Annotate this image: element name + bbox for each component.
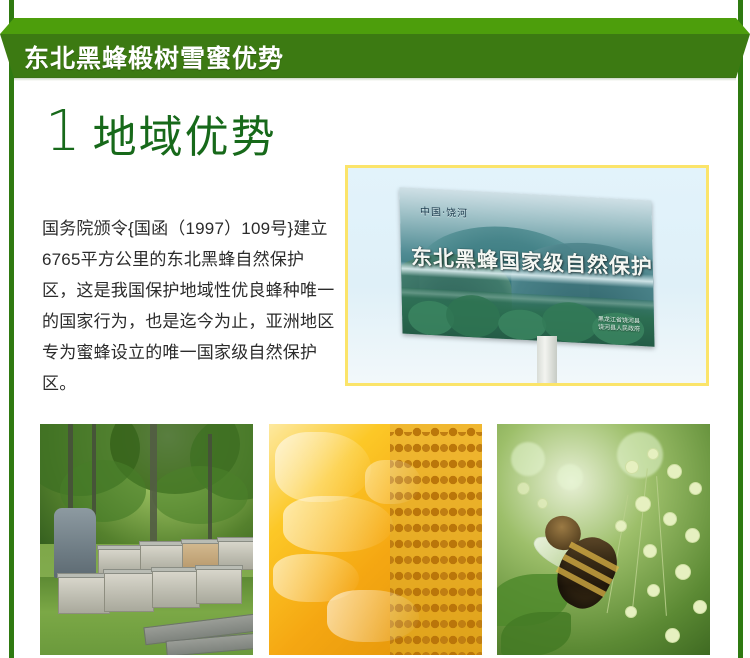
section-heading: 1 地域优势	[45, 106, 277, 162]
flower-bud	[663, 512, 677, 526]
flower-bud	[615, 520, 627, 532]
flower-bud	[693, 600, 707, 614]
billboard-credit: 黑龙江省饶河县 饶河县人民政府	[598, 316, 640, 334]
foliage-blob	[152, 466, 248, 524]
ribbon-top-bevel	[0, 18, 750, 34]
bokeh-spot	[557, 464, 583, 490]
honey-highlight	[327, 590, 419, 642]
hive-lid	[97, 545, 143, 550]
advertorial-page: 东北黑蜂椴树雪蜜优势 1 地域优势 国务院颁令{国函（1997）109号}建立6…	[0, 0, 750, 658]
flower-bud	[675, 564, 691, 580]
bee-stripe	[569, 542, 619, 573]
tree-blob	[446, 294, 501, 339]
section-body-text: 国务院颁令{国函（1997）109号}建立6765平方公里的东北黑蜂自然保护区，…	[42, 213, 338, 399]
photo-bee-on-blossom	[497, 424, 710, 655]
photo-apiary	[40, 424, 253, 655]
billboard-photo-frame: 中国·饶河 东北黑蜂国家级自然保护区 黑龙江省饶河县 饶河县人民政府	[345, 165, 709, 386]
section-title: 地域优势	[93, 114, 277, 162]
flower-bud	[665, 628, 680, 643]
billboard-pole	[537, 336, 557, 386]
section-number: 1	[45, 104, 81, 160]
flower-bud	[643, 544, 657, 558]
page-title: 东北黑蜂椴树雪蜜优势	[24, 42, 284, 76]
flower-bud	[685, 528, 700, 543]
bokeh-spot	[511, 442, 545, 476]
photo-strip	[40, 424, 710, 655]
flower-bud	[517, 482, 530, 495]
header-ribbon: 东北黑蜂椴树雪蜜优势	[0, 18, 750, 80]
billboard-subtitle: 中国·饶河	[420, 203, 469, 220]
hive-lid	[195, 565, 243, 570]
page-rail-left	[9, 0, 14, 658]
honey-highlight	[365, 460, 421, 504]
honey-highlight	[283, 496, 393, 552]
page-rail-right	[738, 0, 743, 658]
beehive	[196, 568, 242, 604]
tree-trunk	[208, 434, 212, 552]
flower-bud	[635, 496, 651, 512]
honey-highlight	[275, 432, 371, 502]
beehive	[104, 572, 154, 612]
hive-lid	[217, 537, 253, 542]
billboard-board: 中国·饶河 东北黑蜂国家级自然保护区 黑龙江省饶河县 饶河县人民政府	[399, 187, 654, 346]
hive-lid	[103, 569, 155, 574]
flower-bud	[625, 606, 637, 618]
covered-hive-tarp	[54, 508, 96, 578]
flower-bud	[537, 498, 548, 509]
flower-bud	[647, 584, 660, 597]
hive-lid	[151, 567, 201, 572]
flower-bud	[625, 460, 639, 474]
photo-honeycomb	[269, 424, 482, 655]
beehive	[152, 570, 200, 608]
beehive	[58, 576, 110, 614]
flower-bud	[689, 482, 702, 495]
flower-stem	[631, 468, 648, 617]
hive-lid	[139, 541, 187, 546]
ribbon-shadow	[14, 77, 736, 81]
flower-bud	[667, 464, 682, 479]
flower-bud	[647, 448, 659, 460]
